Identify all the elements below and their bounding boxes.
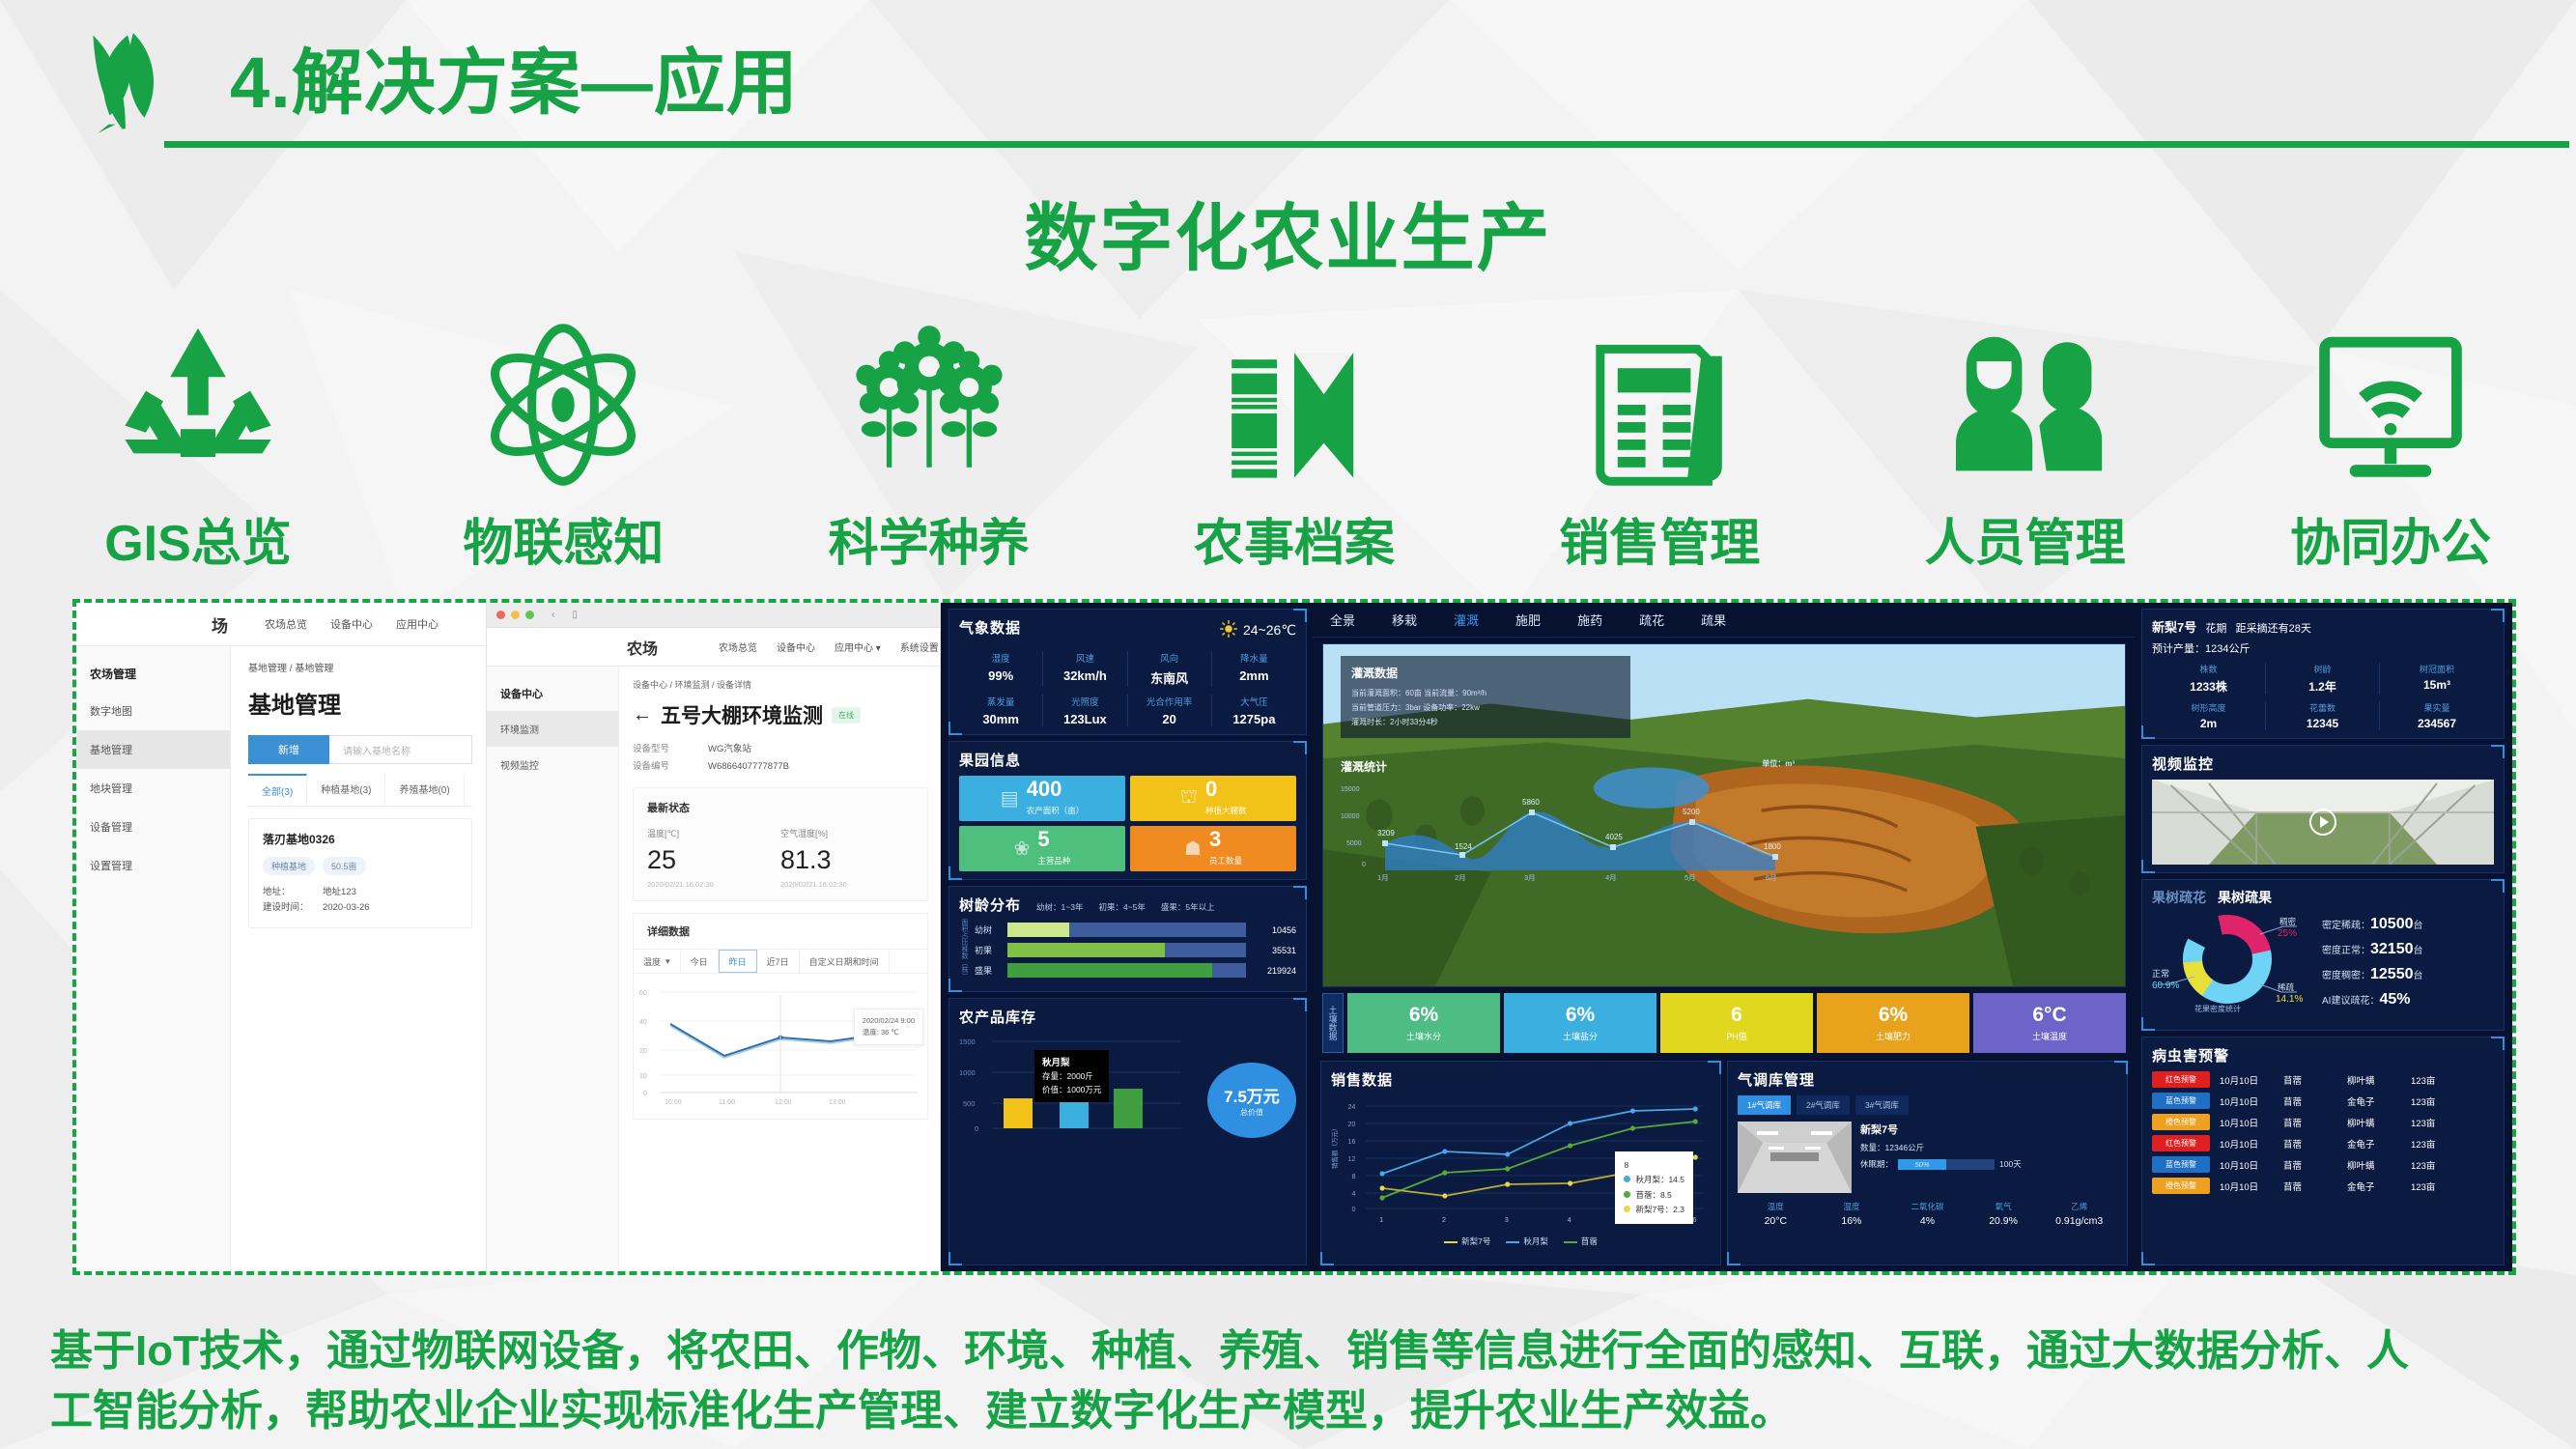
app-brand: 场	[212, 612, 228, 637]
weather-item-evaporation: 蒸发量30mm	[959, 695, 1043, 726]
tab-breeding[interactable]: 养殖基地(0)	[385, 774, 464, 806]
stat-unit: 台	[2414, 971, 2423, 981]
kpi-value: 1.2年	[2266, 678, 2379, 695]
density-stats: 密定稀疏：10500台 密度正常：32150台 密度稠密：12550台 AI建议…	[2314, 916, 2494, 1016]
svg-text:3: 3	[1505, 1215, 1509, 1224]
address-value: 地址123	[323, 885, 356, 900]
alert-area: 123亩	[2411, 1094, 2475, 1108]
kpi-value: 234567	[2380, 717, 2494, 730]
tooltip-series-name: 秋月梨：	[1635, 1175, 1668, 1184]
breadcrumb: 设备中心 / 环境监测 / 设备详情	[633, 678, 928, 691]
pest-alert-panel: 病虫害预警 红色预警 10月10日 苜蓿 柳叶螨 123亩 蓝色预警 10月10…	[2141, 1037, 2505, 1265]
soil-label: 土壤肥力	[1876, 1030, 1911, 1042]
svg-text:6月: 6月	[1766, 873, 1777, 882]
feature-scientific-farming[interactable]: 科学种养	[770, 313, 1089, 575]
svg-text:14.1%: 14.1%	[2276, 994, 2303, 1005]
alert-date: 10月10日	[2220, 1073, 2283, 1087]
svg-text:20: 20	[639, 1048, 647, 1055]
temperature-range: 24~26℃	[1243, 622, 1296, 639]
feature-label: GIS总览	[39, 502, 357, 575]
svg-text:3月: 3月	[1524, 873, 1536, 882]
maximize-icon[interactable]	[525, 611, 534, 619]
range-7days[interactable]: 近7日	[757, 950, 800, 973]
item-value: 99%	[959, 668, 1042, 683]
item-value: 20	[1128, 712, 1211, 726]
base-type-chip: 种植基地	[263, 857, 315, 875]
page-title: 4.解决方案—应用	[230, 25, 799, 128]
alert-crop: 苜蓿	[2283, 1116, 2347, 1129]
card-number: 400	[1027, 777, 1062, 801]
legend-label: 新梨7号	[1461, 1236, 1490, 1246]
back-arrow-icon[interactable]: ←	[633, 704, 652, 726]
table-row[interactable]: 橙色预警 10月10日 苜蓿 金龟子 123亩	[2152, 1178, 2494, 1194]
tree-age-row-young: 幼树 10456	[975, 923, 1296, 937]
svg-text:20: 20	[1348, 1122, 1356, 1128]
sn-value: W6866407777877B	[708, 758, 789, 776]
item-label: 蒸发量	[959, 695, 1042, 708]
stat-ai-advice: AI建议疏花：45%	[2322, 991, 2494, 1009]
legend-item: 新梨7号	[1444, 1236, 1490, 1247]
feature-iot-sensing[interactable]: 物联感知	[404, 313, 722, 575]
row-value: 219924	[1252, 966, 1296, 976]
table-row[interactable]: 红色预警 10月10日 苜蓿 金龟子 123亩	[2152, 1135, 2494, 1151]
tooltip-title: 秋月梨	[1042, 1058, 1070, 1068]
total-value-label: 总价值	[1240, 1107, 1263, 1118]
nav-item[interactable]: 农场总览	[265, 616, 307, 632]
weather-item-windspeed: 风速32km/h	[1043, 651, 1127, 687]
metric-timestamp: 2020/02/21 16:02:30	[780, 880, 914, 889]
base-name: 落刃基地0326	[263, 831, 458, 847]
kpi-value: 2m	[2152, 717, 2265, 730]
irrigation-line1: 当前灌溉面积：60亩 当前流量：90m³/h	[1351, 687, 1620, 701]
row-label: 初果	[975, 944, 1002, 956]
tab-panorama[interactable]: 全景	[1330, 611, 1355, 629]
orchard-card-staff: ☗ 3员工数量	[1130, 826, 1296, 871]
svg-text:0: 0	[975, 1124, 978, 1133]
nav-item[interactable]: 系统设置	[900, 639, 939, 654]
pest-title: 病虫害预警	[2152, 1045, 2494, 1065]
soil-value: 6%	[1879, 1004, 1908, 1027]
status-badge: 红色预警	[2152, 1135, 2210, 1151]
sidebar-item-base-management[interactable]: 基地管理	[76, 730, 230, 769]
weather-item-rainfall: 降水量2mm	[1212, 651, 1296, 687]
cold-tab-1[interactable]: 1#气调库	[1738, 1095, 1791, 1115]
alert-crop: 苜蓿	[2283, 1137, 2347, 1151]
slide-caption: 基于IoT技术，通过物联网设备，将农田、作物、环境、种植、养殖、销售等信息进行全…	[50, 1321, 2542, 1442]
tooltip-time: 2020/02/24 9:00	[863, 1015, 915, 1027]
alert-area: 123亩	[2411, 1137, 2475, 1151]
alert-crop: 苜蓿	[2283, 1158, 2347, 1172]
metric-value: 4%	[1889, 1215, 1966, 1227]
item-value: 东南风	[1128, 668, 1211, 687]
svg-text:正常: 正常	[2152, 968, 2169, 979]
cold-storage-qty: 数量：12346公斤	[1860, 1142, 2022, 1153]
svg-text:40: 40	[639, 1019, 647, 1026]
stat-normal: 密度正常：32150台	[2322, 941, 2494, 958]
tab-fertilize[interactable]: 施肥	[1515, 611, 1541, 629]
wifi-monitor-icon	[2231, 313, 2550, 497]
metric-value: 16%	[1814, 1215, 1890, 1227]
card-caption: 种植大棚数	[1205, 806, 1247, 815]
svg-text:12:00: 12:00	[775, 1099, 792, 1106]
greenhouse-icon: ⛫	[1180, 786, 1198, 810]
svg-text:稠密: 稠密	[2279, 917, 2297, 926]
tooltip-series-value: 2.3	[1673, 1205, 1684, 1214]
dormancy-total: 100天	[1999, 1158, 2022, 1170]
product-screenshot-strip: 场 农场总览 设备中心 应用中心 农场管理 数字地图 基地管理 地块管理 设备管…	[72, 599, 2516, 1275]
table-row[interactable]: 橙色预警 10月10日 苜蓿 柳叶螨 123亩	[2152, 1114, 2494, 1130]
svg-text:11:00: 11:00	[719, 1099, 735, 1106]
svg-text:0: 0	[1352, 1207, 1356, 1213]
svg-text:1500: 1500	[959, 1037, 976, 1046]
inventory-chart: 15001000 5000	[959, 1033, 1202, 1142]
stat-value: 32150	[2370, 941, 2414, 957]
kpi-value: 1233株	[2152, 678, 2265, 695]
sidebar-item-digital-map[interactable]: 数字地图	[76, 692, 230, 730]
video-thumbnail[interactable]	[2152, 780, 2494, 865]
item-value: 123Lux	[1043, 712, 1126, 726]
status-badge: 蓝色预警	[2152, 1093, 2210, 1109]
svg-text:4月: 4月	[1605, 873, 1617, 882]
cold-storage-photo	[1738, 1122, 1852, 1193]
kpi-flower-buds: 花蕾数12345	[2266, 701, 2380, 730]
alert-area: 123亩	[2411, 1158, 2475, 1172]
tooltip-series-name: 苜蓿：	[1635, 1190, 1660, 1200]
latest-status-title: 最新状态	[647, 800, 914, 815]
section-heading: 数字化农业生产	[0, 179, 2576, 285]
tab-transplant[interactable]: 移栽	[1392, 611, 1417, 629]
stat-value: 10500	[2370, 916, 2414, 932]
cold-storage-panel: 气调库管理 1#气调库 2#气调库 3#气调库	[1727, 1061, 2128, 1265]
tab-pesticide[interactable]: 施药	[1577, 611, 1602, 629]
metric-value: 81.3	[780, 845, 914, 875]
metric-temperature: 温度[℃] 25 2020/02/21 16:02:30	[647, 827, 780, 889]
tab-flower-thinning[interactable]: 果树疏花	[2152, 888, 2206, 907]
video-monitor-panel: 视频监控	[2141, 745, 2505, 873]
atom-icon	[404, 313, 722, 497]
feature-sales-management[interactable]: 销售管理	[1500, 313, 1819, 575]
item-label: 湿度	[959, 651, 1042, 665]
search-input[interactable]: 请输入基地名称	[329, 735, 472, 764]
status-badge: 红色预警	[2152, 1071, 2210, 1088]
metric-select-value: 温度	[643, 955, 661, 968]
flowers-icon	[770, 313, 1089, 497]
tab-flower-thinning[interactable]: 疏花	[1639, 611, 1664, 629]
app-nav: 农场总览 设备中心 应用中心	[265, 616, 439, 632]
sales-tooltip: 8 秋月梨：14.5 苜蓿：8.5 新梨7号：2.3	[1615, 1151, 1693, 1224]
feature-gis-overview[interactable]: GIS总览	[39, 313, 357, 575]
svg-text:3209: 3209	[1377, 829, 1395, 838]
svg-text:1月: 1月	[1377, 873, 1389, 882]
tab-irrigation[interactable]: 灌溉	[1454, 611, 1479, 629]
alert-pest: 柳叶螨	[2347, 1116, 2411, 1129]
metric-humidity: 空气湿度[%] 81.3 2020/02/21 16:02:30	[780, 827, 914, 889]
range-today[interactable]: 今日	[681, 950, 719, 973]
cold-tab-3[interactable]: 3#气调库	[1855, 1095, 1909, 1115]
detail-data-box: 详细数据 温度 ▾ 今日 昨日 近7日 自定义日期和时间 6040	[633, 913, 928, 1120]
kpi-value: 12345	[2266, 717, 2379, 730]
item-label: 降水量	[1212, 651, 1296, 665]
crop-icon: ❀	[1014, 837, 1031, 861]
tab-fruit-thinning[interactable]: 果树疏果	[2218, 888, 2272, 907]
sidebar-group-title: 设备中心	[487, 676, 618, 711]
item-value: 1275pa	[1212, 712, 1296, 726]
alert-date: 10月10日	[2220, 1094, 2283, 1108]
svg-text:5200: 5200	[1683, 808, 1700, 816]
tab-fruit-thinning[interactable]: 疏果	[1701, 611, 1726, 629]
cold-tab-2[interactable]: 2#气调库	[1797, 1095, 1850, 1115]
alert-date: 10月10日	[2220, 1179, 2283, 1193]
svg-text:24: 24	[1348, 1104, 1356, 1111]
alert-date: 10月10日	[2220, 1158, 2283, 1172]
sales-panel: 销售数据 242016 12840 销售额（万元）	[1320, 1061, 1721, 1265]
kpi-canopy-area: 树冠面积15m³	[2380, 663, 2494, 695]
dormancy-progress: 50%	[1898, 1159, 1995, 1170]
app-topbar: 场 农场总览 设备中心 应用中心	[76, 603, 486, 646]
metric-value: 20°C	[1738, 1215, 1814, 1227]
archive-icon	[1135, 313, 1454, 497]
crop-stage: 花期	[2205, 623, 2226, 635]
orchard-title: 果园信息	[959, 750, 1296, 770]
metric-timestamp: 2020/02/21 16:02:30	[647, 880, 780, 889]
metric-value: 0.91g/cm3	[2041, 1215, 2117, 1227]
weather-item-pressure: 大气压1275pa	[1212, 695, 1296, 726]
range-custom[interactable]: 自定义日期和时间	[800, 950, 890, 973]
tree-age-panel: 树龄分布 幼树：1~3年 初果：4~5年 盛果：5年以上 面积占比株数（株） 幼…	[948, 886, 1307, 992]
svg-text:2月: 2月	[1455, 873, 1466, 882]
row-label: 盛果	[975, 964, 1002, 977]
browser-chrome: ‹ ▯	[487, 603, 940, 628]
sidebar-item-device-management[interactable]: 设备管理	[76, 808, 230, 846]
slide: 4.解决方案—应用 数字化农业生产 GIS总览	[0, 0, 2576, 1449]
svg-text:10:00: 10:00	[665, 1099, 682, 1106]
add-button[interactable]: 新增	[248, 735, 329, 764]
svg-text:花果密度统计: 花果密度统计	[2194, 1004, 2241, 1013]
soil-card-temperature: 6°C 土壤温度	[1973, 993, 2126, 1053]
cold-storage-title: 气调库管理	[1738, 1069, 2117, 1090]
alert-pest: 柳叶螨	[2347, 1158, 2411, 1172]
back-icon[interactable]: ‹	[552, 610, 554, 620]
item-label: 光照度	[1043, 695, 1126, 708]
alert-area: 123亩	[2411, 1116, 2475, 1129]
tab-all[interactable]: 全部(3)	[248, 774, 307, 806]
card-number: 3	[1209, 827, 1221, 851]
svg-text:10000: 10000	[1341, 813, 1360, 820]
filter-bar: 温度 ▾ 今日 昨日 近7日 自定义日期和时间	[634, 949, 927, 974]
card-number: 0	[1205, 777, 1217, 801]
legend-early: 初果：4~5年	[1098, 901, 1145, 913]
weather-title: 气象数据	[959, 617, 1021, 638]
farm-3d-map[interactable]: 灌溉数据 当前灌溉面积：60亩 当前流量：90m³/h 当前管道压力：3bar …	[1322, 643, 2126, 987]
legend-item: 秋月梨	[1506, 1236, 1548, 1247]
app-topbar: 农场 农场总览 设备中心 应用中心 ▾ 系统设置	[487, 628, 940, 667]
item-label: 风速	[1043, 651, 1126, 665]
range-yesterday[interactable]: 昨日	[719, 950, 757, 973]
status-badge: 橙色预警	[2152, 1114, 2210, 1130]
density-donut-chart: 正常 60.9% 稠密 25% 稀疏 14.1% 花果密度统计	[2152, 909, 2314, 1022]
soil-data-label: 土壤数据	[1322, 993, 1344, 1053]
tree-age-row-full: 盛果 219924	[975, 963, 1296, 978]
play-icon[interactable]	[2309, 809, 2336, 836]
expected-yield: 预计产量：1234公斤	[2152, 640, 2494, 656]
svg-text:25%: 25%	[2278, 928, 2297, 939]
kpi-label: 果实量	[2380, 701, 2494, 714]
feature-label: 协同办公	[2231, 502, 2550, 575]
model-key: 设备型号	[633, 741, 708, 758]
sidebar: 设备中心 环境监测 视频监控	[487, 667, 619, 1271]
nav-item[interactable]: 应用中心 ▾	[835, 639, 881, 654]
table-row[interactable]: 蓝色预警 10月10日 苜蓿 金龟子 123亩	[2152, 1093, 2494, 1109]
sidebar-item-video-monitor[interactable]: 视频监控	[487, 747, 618, 782]
base-management-app: 场 农场总览 设备中心 应用中心 农场管理 数字地图 基地管理 地块管理 设备管…	[76, 603, 487, 1271]
metric-label: 湿度	[1814, 1201, 1890, 1212]
svg-text:10: 10	[639, 1073, 647, 1080]
tooltip-value: 温度: 36 ℃	[863, 1027, 915, 1038]
nav-item[interactable]: 应用中心	[396, 616, 439, 632]
base-card[interactable]: 落刃基地0326 种植基地 50.5亩 地址：地址123 建设时间：2020-0…	[248, 818, 472, 928]
device-detail-app: ‹ ▯ 农场 农场总览 设备中心 应用中心 ▾ 系统设置 设备中心 环境监测 视…	[487, 603, 941, 1271]
breadcrumb: 基地管理 / 基地管理	[248, 660, 472, 674]
feature-farm-archive[interactable]: 农事档案	[1135, 313, 1454, 575]
sidebar-item-environment-monitor[interactable]: 环境监测	[487, 711, 618, 747]
alert-crop: 苜蓿	[2283, 1094, 2347, 1108]
staff-icon: ☗	[1184, 837, 1202, 861]
metric-label: 温度[℃]	[647, 827, 780, 839]
feature-collaborative-office[interactable]: 协同办公	[2231, 313, 2550, 575]
stat-label: 密定稀疏：	[2322, 921, 2370, 931]
dormancy-percent: 50%	[1898, 1159, 1946, 1170]
weather-item-illuminance: 光照度123Lux	[1043, 695, 1127, 726]
tab-planting[interactable]: 种植基地(3)	[307, 774, 385, 806]
sidebar-item-plot-management[interactable]: 地块管理	[76, 769, 230, 808]
card-number: 5	[1037, 827, 1049, 851]
pest-alert-table: 红色预警 10月10日 苜蓿 柳叶螨 123亩 蓝色预警 10月10日 苜蓿 金…	[2152, 1071, 2494, 1194]
kpi-label: 花蕾数	[2266, 701, 2379, 714]
metric-label: 二氧化碳	[1889, 1201, 1966, 1212]
svg-text:15000: 15000	[1341, 786, 1360, 793]
farm-bigscreen-dashboard: 气象数据 24~26℃ 湿度99% 风速32km/h 风向东南风 降水量2mm	[941, 603, 2512, 1271]
legend-young: 幼树：1~3年	[1036, 901, 1083, 913]
stat-unit: 台	[2414, 921, 2423, 931]
orchard-card-crops: ❀ 5主营品种	[959, 826, 1125, 871]
status-badge: 在线	[832, 707, 861, 724]
legend-label: 秋月梨	[1523, 1236, 1548, 1246]
sidebar-group-title: 农场管理	[76, 654, 230, 692]
table-row[interactable]: 蓝色预警 10月10日 苜蓿 柳叶螨 123亩	[2152, 1156, 2494, 1173]
svg-text:16: 16	[1348, 1139, 1356, 1146]
field-icon: ▤	[1001, 786, 1019, 810]
svg-text:稀疏: 稀疏	[2278, 982, 2295, 992]
nav-item[interactable]: 设备中心	[777, 639, 815, 654]
base-area-chip: 50.5亩	[323, 857, 366, 875]
detail-data-title: 详细数据	[634, 923, 927, 949]
alert-pest: 金龟子	[2347, 1179, 2411, 1193]
nav-item[interactable]: 设备中心	[330, 616, 373, 632]
alert-area: 123亩	[2411, 1073, 2475, 1087]
alert-date: 10月10日	[2220, 1116, 2283, 1129]
svg-text:13:00: 13:00	[829, 1099, 846, 1106]
dormancy-label: 休眠期：	[1860, 1158, 1893, 1170]
soil-value: 6%	[1409, 1004, 1438, 1027]
crop-name: 新梨7号	[2152, 620, 2196, 635]
tooltip-value: 价值：1000万元	[1042, 1085, 1101, 1094]
tooltip-stock: 存量：2000斤	[1042, 1071, 1093, 1081]
soil-label: 土壤水分	[1406, 1030, 1441, 1042]
row-value: 10456	[1252, 925, 1296, 935]
card-caption: 主营品种	[1037, 856, 1070, 866]
soil-value: 6°C	[2032, 1004, 2066, 1027]
item-value: 32km/h	[1043, 668, 1126, 683]
status-badge: 蓝色预警	[2152, 1156, 2210, 1173]
recycle-icon	[39, 313, 357, 497]
feature-label: 人员管理	[1866, 502, 2185, 575]
row-value: 35531	[1252, 946, 1296, 955]
close-icon[interactable]	[496, 611, 505, 619]
metric-label: 氧气	[1966, 1201, 2042, 1212]
soil-card-fertility: 6% 土壤肥力	[1817, 993, 1969, 1053]
item-value: 30mm	[959, 712, 1042, 726]
kpi-tree-height: 树形高度2m	[2152, 701, 2266, 730]
alert-pest: 金龟子	[2347, 1137, 2411, 1151]
kpi-value: 15m³	[2380, 678, 2494, 692]
feature-staff-management[interactable]: 人员管理	[1866, 313, 2185, 575]
weather-panel: 气象数据 24~26℃ 湿度99% 风速32km/h 风向东南风 降水量2mm	[948, 609, 1307, 735]
minimize-icon[interactable]	[511, 611, 520, 619]
app-brand: 农场	[627, 636, 658, 659]
stat-label: 密度正常：	[2322, 946, 2370, 956]
metric-label: 空气湿度[%]	[780, 827, 914, 839]
svg-text:1: 1	[1379, 1215, 1383, 1224]
tooltip-series-value: 14.5	[1668, 1175, 1684, 1184]
sidebar-toggle-icon[interactable]: ▯	[572, 610, 578, 620]
svg-text:1524: 1524	[1455, 842, 1472, 851]
stat-label: 密度稠密：	[2322, 971, 2370, 981]
weather-item-humidity: 湿度99%	[959, 651, 1043, 687]
soil-value: 6%	[1566, 1004, 1595, 1027]
soil-card-moisture: 6% 土壤水分	[1347, 993, 1500, 1053]
kpi-label: 株数	[2152, 663, 2265, 675]
svg-text:1000: 1000	[959, 1068, 976, 1077]
fruit-thinning-panel: 果树疏花 果树疏果	[2141, 879, 2505, 1031]
alert-crop: 苜蓿	[2283, 1179, 2347, 1193]
legend-full: 盛果：5年以上	[1161, 901, 1215, 913]
receipt-icon	[1500, 313, 1819, 497]
activity-tabs: 全景 移栽 灌溉 施肥 施药 疏花 疏果	[1313, 603, 2136, 638]
svg-text:500: 500	[963, 1099, 976, 1108]
feature-label: 销售管理	[1500, 502, 1819, 575]
card-caption: 员工数量	[1209, 856, 1242, 866]
slide-header: 4.解决方案—应用	[0, 0, 2576, 159]
people-icon	[1866, 313, 2185, 497]
metric-select[interactable]: 温度 ▾	[634, 950, 681, 973]
kpi-label: 树冠面积	[2380, 663, 2494, 675]
svg-text:5860: 5860	[1522, 798, 1540, 807]
tree-age-axis-label: 面积占比株数（株）	[959, 919, 969, 980]
built-time-key: 建设时间：	[263, 900, 323, 916]
table-row[interactable]: 红色预警 10月10日 苜蓿 柳叶螨 123亩	[2152, 1071, 2494, 1088]
tooltip-series-value: 8.5	[1660, 1190, 1672, 1200]
legend-label: 苜蓿	[1581, 1236, 1598, 1246]
feature-label: 科学种养	[770, 502, 1089, 575]
sidebar-item-settings-management[interactable]: 设置管理	[76, 846, 230, 885]
total-value-bubble: 7.5万元 总价值	[1207, 1063, 1296, 1138]
svg-text:0: 0	[643, 1091, 647, 1097]
nav-item[interactable]: 农场总览	[719, 639, 757, 654]
model-value: WG汽象站	[708, 741, 751, 758]
inventory-tooltip: 秋月梨 存量：2000斤 价值：1000万元	[1034, 1050, 1109, 1102]
item-label: 光合作用率	[1128, 695, 1211, 708]
kpi-label: 树龄	[2266, 663, 2379, 675]
